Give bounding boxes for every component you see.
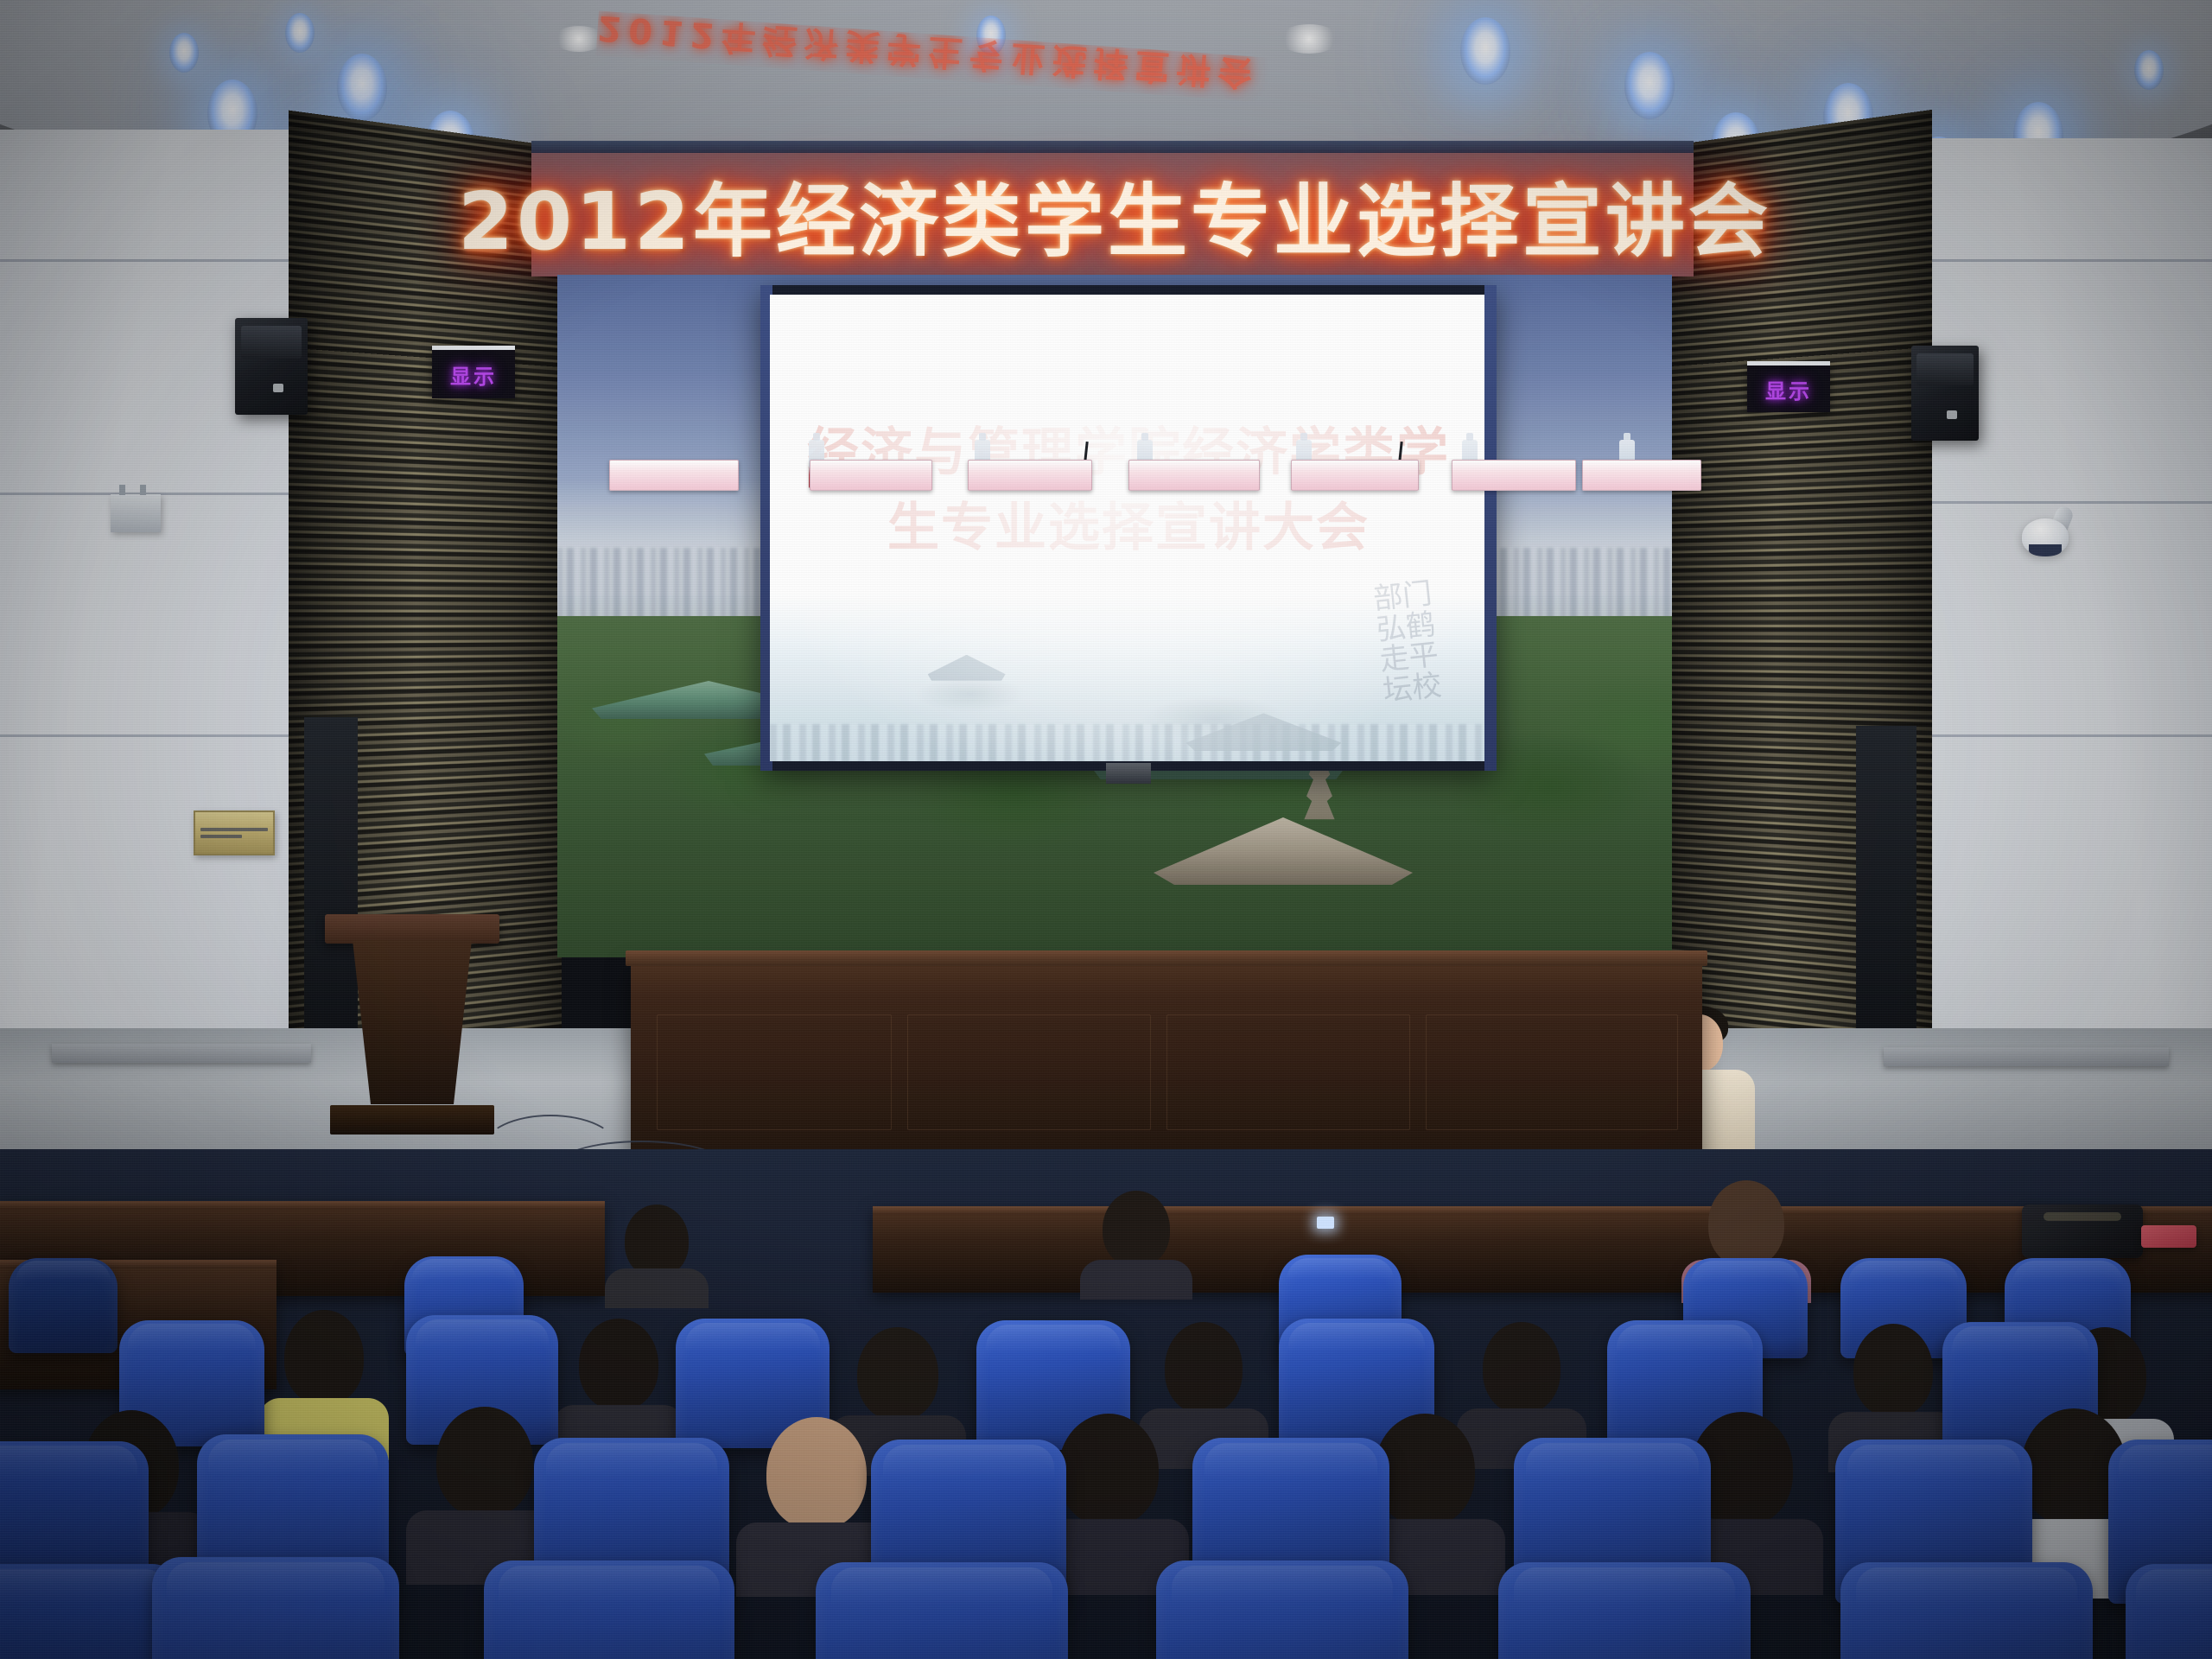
seat-highlight [1172,1566,1394,1604]
audience-person [605,1205,709,1300]
head-table-panel [1166,1014,1410,1130]
seat-highlight [546,1443,718,1479]
auditorium-seat [484,1560,734,1659]
seat-highlight [1287,1258,1395,1281]
person-head [1708,1180,1784,1267]
head-table-panel [907,1014,1151,1130]
auditorium-seat [9,1258,118,1353]
head-table-top [626,950,1707,966]
slide-skyline [770,724,1487,761]
name-placard-5 [1291,460,1419,491]
person-head [579,1319,658,1410]
person-head [1853,1324,1933,1417]
seat-highlight [1205,1443,1378,1479]
dome-camera-icon [2022,518,2069,555]
auditorium-seat [2126,1564,2212,1659]
seat-highlight [16,1261,111,1281]
auditorium-photo: 2012年经济类学生专业选择宣讲会 2012年经济类学生专业选择宣讲会 [0,0,2212,1659]
desk-lip [873,1206,2212,1215]
person-head [1165,1322,1243,1414]
audience-area [0,1149,2212,1659]
wall-mounted-box [111,494,161,532]
seat-highlight [499,1566,719,1604]
seat-highlight [0,1569,168,1605]
downlight [1624,52,1675,119]
seat-highlight [416,1319,550,1348]
speaker-grill [1916,353,1974,385]
seat-highlight [1848,1261,1959,1283]
person-head [857,1327,938,1421]
name-placard-7 [1582,460,1701,491]
seat-highlight [208,1440,377,1476]
seat-highlight [1617,1325,1753,1353]
backpack [2022,1205,2143,1258]
projection-screen-surface: 经济与管理学院经济学类学 生专业选择宣讲大会 部门 弘鹤 走平 坛校 [770,295,1487,761]
name-placard-4 [1128,460,1260,491]
seat-highlight [685,1323,821,1351]
podium-base [330,1105,494,1135]
phone-screen-glow [1317,1217,1334,1229]
slide-calligraphy: 部门 弘鹤 走平 坛校 [1372,579,1444,708]
person-head [1375,1414,1475,1526]
seat-highlight [167,1562,385,1600]
led-display-left-text: 显示 [450,359,497,390]
speaker-grill [241,326,302,359]
person-head [625,1205,689,1277]
seat-highlight [883,1445,1055,1481]
slide-title-line-2: 生专业选择宣讲大会 [770,491,1487,566]
seat-highlight [1514,1567,1736,1605]
head-table-panel [1426,1014,1678,1130]
calligraphy-line-4: 坛校 [1382,671,1443,709]
screen-bottom-mount [1106,763,1151,784]
auditorium-seat [1498,1562,1751,1659]
loudspeaker-left [235,318,308,415]
desk-lip [0,1201,605,1210]
person-head [1483,1322,1560,1414]
auditorium-seat [1156,1560,1408,1659]
ceiling-glow [1279,24,1339,54]
projection-screen: 经济与管理学院经济学类学 生专业选择宣讲大会 部门 弘鹤 走平 坛校 [760,285,1497,771]
person-shoulders [605,1268,709,1308]
seat-highlight [1691,1261,1801,1283]
seat-highlight [411,1259,516,1281]
downlight [285,13,315,53]
downlight [337,54,387,121]
auditorium-seat [816,1562,1068,1659]
wall-plaque [194,810,275,855]
seat-highlight [2012,1261,2123,1283]
person-head [1103,1191,1170,1267]
seat-highlight [128,1324,256,1351]
plaque-line [200,828,268,831]
slide-title: 经济与管理学院经济学类学 生专业选择宣讲大会 [770,416,1487,566]
seat-highlight [1847,1445,2021,1481]
seat-highlight [1952,1326,2088,1355]
seat-highlight [1288,1323,1425,1351]
seat-highlight [1526,1443,1700,1479]
led-display-right-text: 显示 [1765,374,1812,404]
person-head [766,1417,867,1529]
podium-body [347,940,477,1104]
name-placard-6 [1452,460,1576,491]
downlight [2134,50,2164,90]
plaque-line [200,835,242,838]
person-head [436,1407,533,1517]
event-banner-title: 2012年经济类学生专业选择宣讲会 [536,162,1694,266]
podium-top [325,914,499,944]
seat-highlight [1856,1567,2078,1605]
seat-highlight [0,1446,137,1480]
led-display-right: 显示 [1747,361,1830,412]
downlight [169,33,199,73]
person-head [284,1310,364,1405]
audience-person [1080,1191,1192,1294]
podium [335,914,489,1135]
seat-highlight [2119,1445,2212,1481]
stage-step [52,1044,311,1063]
seat-highlight [2136,1569,2212,1607]
seat-highlight [831,1567,1053,1605]
seat-highlight [986,1325,1122,1353]
person-head [1058,1414,1159,1526]
loudspeaker-right [1911,346,1979,441]
head-table [631,959,1702,1171]
slide-roof [928,655,1006,681]
auditorium-seat [152,1557,399,1659]
red-bag-item [2141,1225,2196,1248]
led-display-left: 显示 [432,346,515,398]
stage-step [1884,1047,2169,1066]
person-shoulders [1080,1260,1192,1300]
head-table-panel [657,1014,892,1130]
name-placard-3 [968,460,1092,491]
name-placard-1 [609,460,739,491]
auditorium-seat [1840,1562,2093,1659]
name-placard-2 [810,460,932,491]
